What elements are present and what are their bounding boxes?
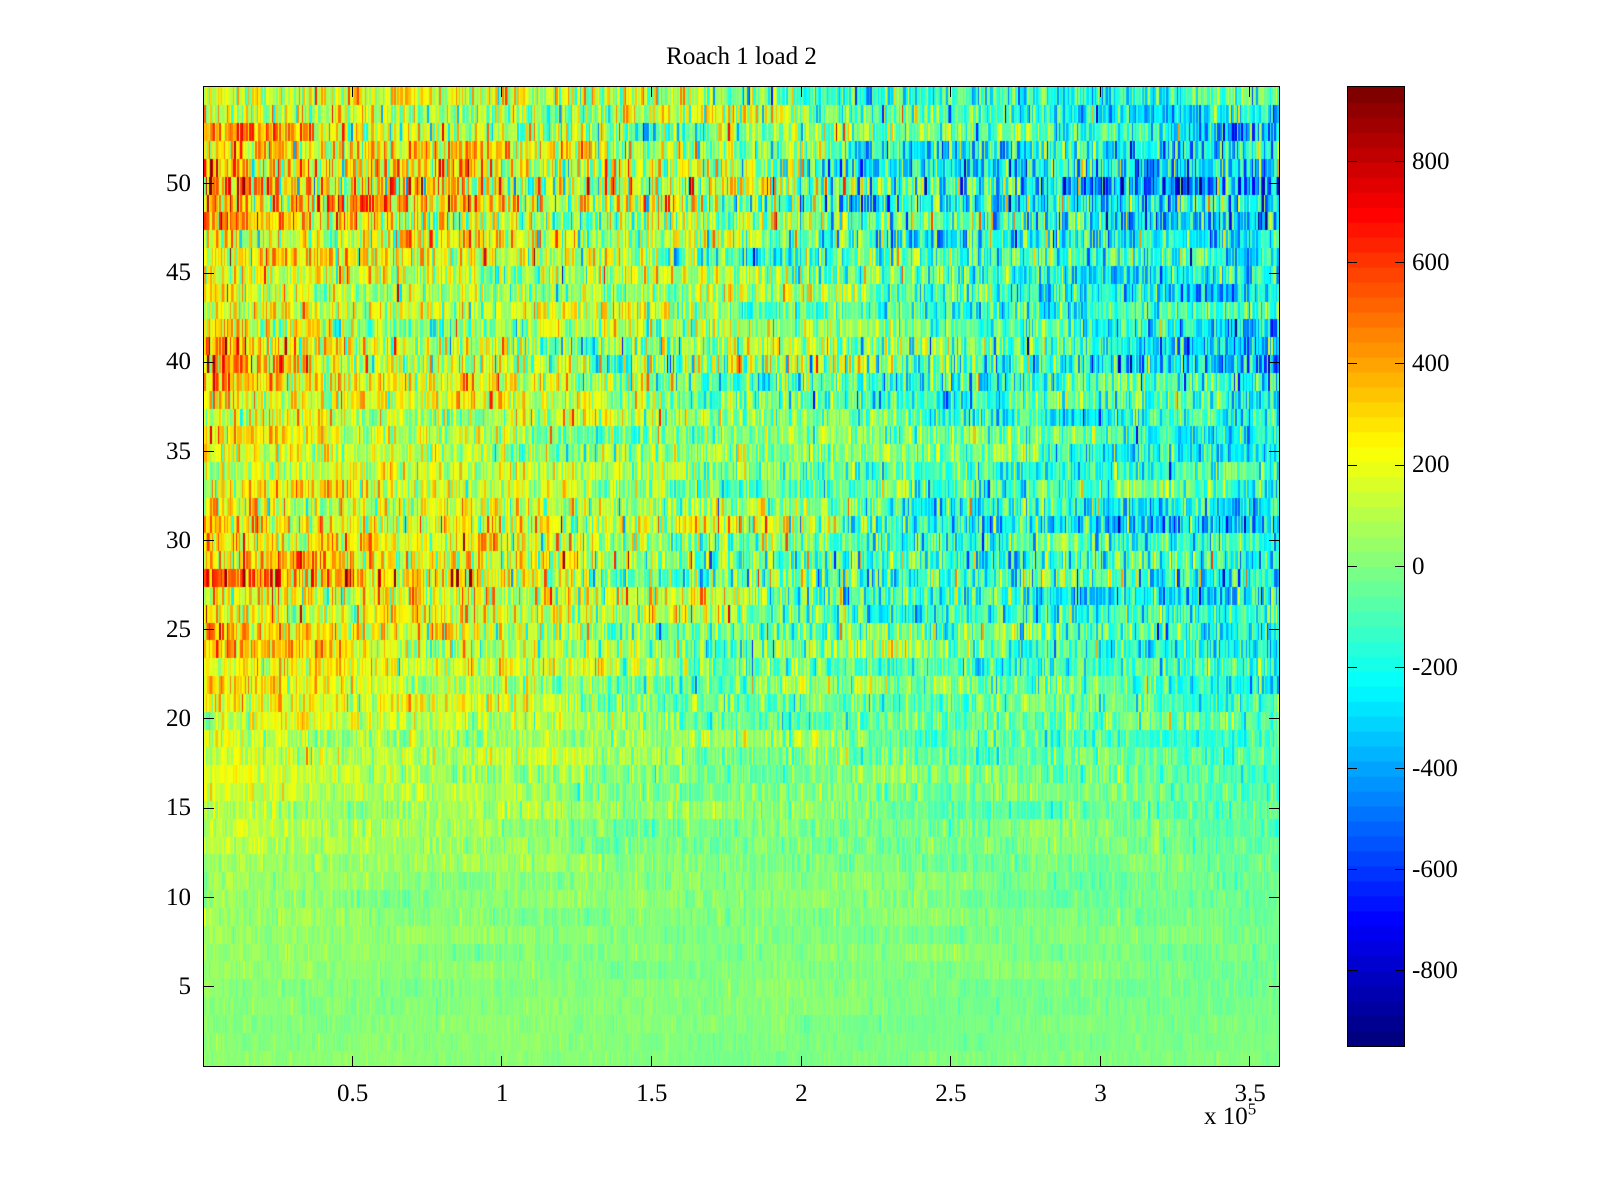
colorbar-tick-mark-right xyxy=(1395,363,1405,364)
colorbar-tick-label: -200 xyxy=(1412,655,1458,680)
y-tick-mark xyxy=(203,986,214,987)
x-tick-mark-top xyxy=(801,86,802,97)
y-tick-mark-right xyxy=(1269,183,1280,184)
y-tick-mark-right xyxy=(1269,451,1280,452)
colorbar-tick-mark xyxy=(1347,667,1357,668)
y-tick-label: 20 xyxy=(103,706,191,731)
y-tick-mark-right xyxy=(1269,362,1280,363)
y-tick-mark-right xyxy=(1269,540,1280,541)
y-tick-mark xyxy=(203,451,214,452)
colorbar-tick-mark xyxy=(1347,363,1357,364)
x-tick-mark xyxy=(352,1056,353,1067)
y-tick-mark xyxy=(203,273,214,274)
colorbar-tick-mark-right xyxy=(1395,869,1405,870)
colorbar-tick-label: -400 xyxy=(1412,756,1458,781)
colorbar-tick-mark-right xyxy=(1395,566,1405,567)
y-tick-mark-right xyxy=(1269,808,1280,809)
x-tick-mark-top xyxy=(501,86,502,97)
x-tick-label: 2.5 xyxy=(891,1081,1011,1106)
colorbar-tick-label: -600 xyxy=(1412,857,1458,882)
colorbar-tick-mark-right xyxy=(1395,465,1405,466)
x-tick-label: 1.5 xyxy=(592,1081,712,1106)
colorbar-tick-mark-right xyxy=(1395,970,1405,971)
y-tick-mark-right xyxy=(1269,986,1280,987)
colorbar-tick-mark xyxy=(1347,161,1357,162)
x-tick-mark xyxy=(651,1056,652,1067)
colorbar-tick-mark-right xyxy=(1395,768,1405,769)
y-tick-mark xyxy=(203,629,214,630)
x-tick-label: 3 xyxy=(1041,1081,1161,1106)
colorbar-tick-mark xyxy=(1347,465,1357,466)
y-tick-mark xyxy=(203,897,214,898)
colorbar-tick-label: -800 xyxy=(1412,958,1458,983)
colorbar-tick-mark xyxy=(1347,566,1357,567)
y-tick-mark xyxy=(203,718,214,719)
figure-canvas: Roach 1 load 2 x 105 5101520253035404550… xyxy=(0,0,1600,1200)
y-tick-label: 30 xyxy=(103,528,191,553)
x-tick-mark-top xyxy=(651,86,652,97)
y-tick-mark-right xyxy=(1269,273,1280,274)
colorbar-tick-mark xyxy=(1347,262,1357,263)
colorbar-tick-label: 200 xyxy=(1412,452,1450,477)
x-tick-mark xyxy=(950,1056,951,1067)
x-tick-label: 3.5 xyxy=(1190,1081,1310,1106)
x-tick-mark xyxy=(801,1056,802,1067)
y-tick-label: 15 xyxy=(103,795,191,820)
x-tick-mark-top xyxy=(950,86,951,97)
colorbar-tick-mark-right xyxy=(1395,667,1405,668)
x-tick-mark xyxy=(1100,1056,1101,1067)
colorbar-tick-label: 400 xyxy=(1412,351,1450,376)
heatmap-image xyxy=(204,87,1280,1067)
x-axis-exponent-label: x 105 xyxy=(1204,1104,1256,1129)
y-tick-mark xyxy=(203,362,214,363)
page-title: Roach 1 load 2 xyxy=(203,44,1280,70)
y-tick-mark-right xyxy=(1269,629,1280,630)
y-tick-label: 25 xyxy=(103,617,191,642)
y-tick-label: 40 xyxy=(103,349,191,374)
colorbar-tick-mark-right xyxy=(1395,161,1405,162)
colorbar-tick-label: 800 xyxy=(1412,149,1450,174)
y-tick-label: 45 xyxy=(103,260,191,285)
y-tick-mark-right xyxy=(1269,718,1280,719)
x-tick-mark xyxy=(1249,1056,1250,1067)
y-tick-label: 10 xyxy=(103,885,191,910)
y-tick-mark xyxy=(203,540,214,541)
y-tick-label: 5 xyxy=(103,974,191,999)
x-tick-mark-top xyxy=(1249,86,1250,97)
x-tick-label: 1 xyxy=(442,1081,562,1106)
colorbar-tick-mark xyxy=(1347,970,1357,971)
x-tick-mark xyxy=(501,1056,502,1067)
y-tick-label: 35 xyxy=(103,439,191,464)
colorbar-tick-mark-right xyxy=(1395,262,1405,263)
x-tick-mark-top xyxy=(352,86,353,97)
colorbar-tick-label: 600 xyxy=(1412,250,1450,275)
x-tick-label: 2 xyxy=(741,1081,861,1106)
colorbar-tick-label: 0 xyxy=(1412,554,1425,579)
colorbar-tick-mark xyxy=(1347,869,1357,870)
x-tick-mark-top xyxy=(1100,86,1101,97)
x-exponent-mantissa: x 10 xyxy=(1204,1103,1248,1130)
y-tick-label: 50 xyxy=(103,171,191,196)
y-tick-mark-right xyxy=(1269,897,1280,898)
x-tick-label: 0.5 xyxy=(293,1081,413,1106)
colorbar-tick-mark xyxy=(1347,768,1357,769)
heatmap-axes[interactable] xyxy=(203,86,1280,1067)
y-tick-mark xyxy=(203,808,214,809)
y-tick-mark xyxy=(203,183,214,184)
